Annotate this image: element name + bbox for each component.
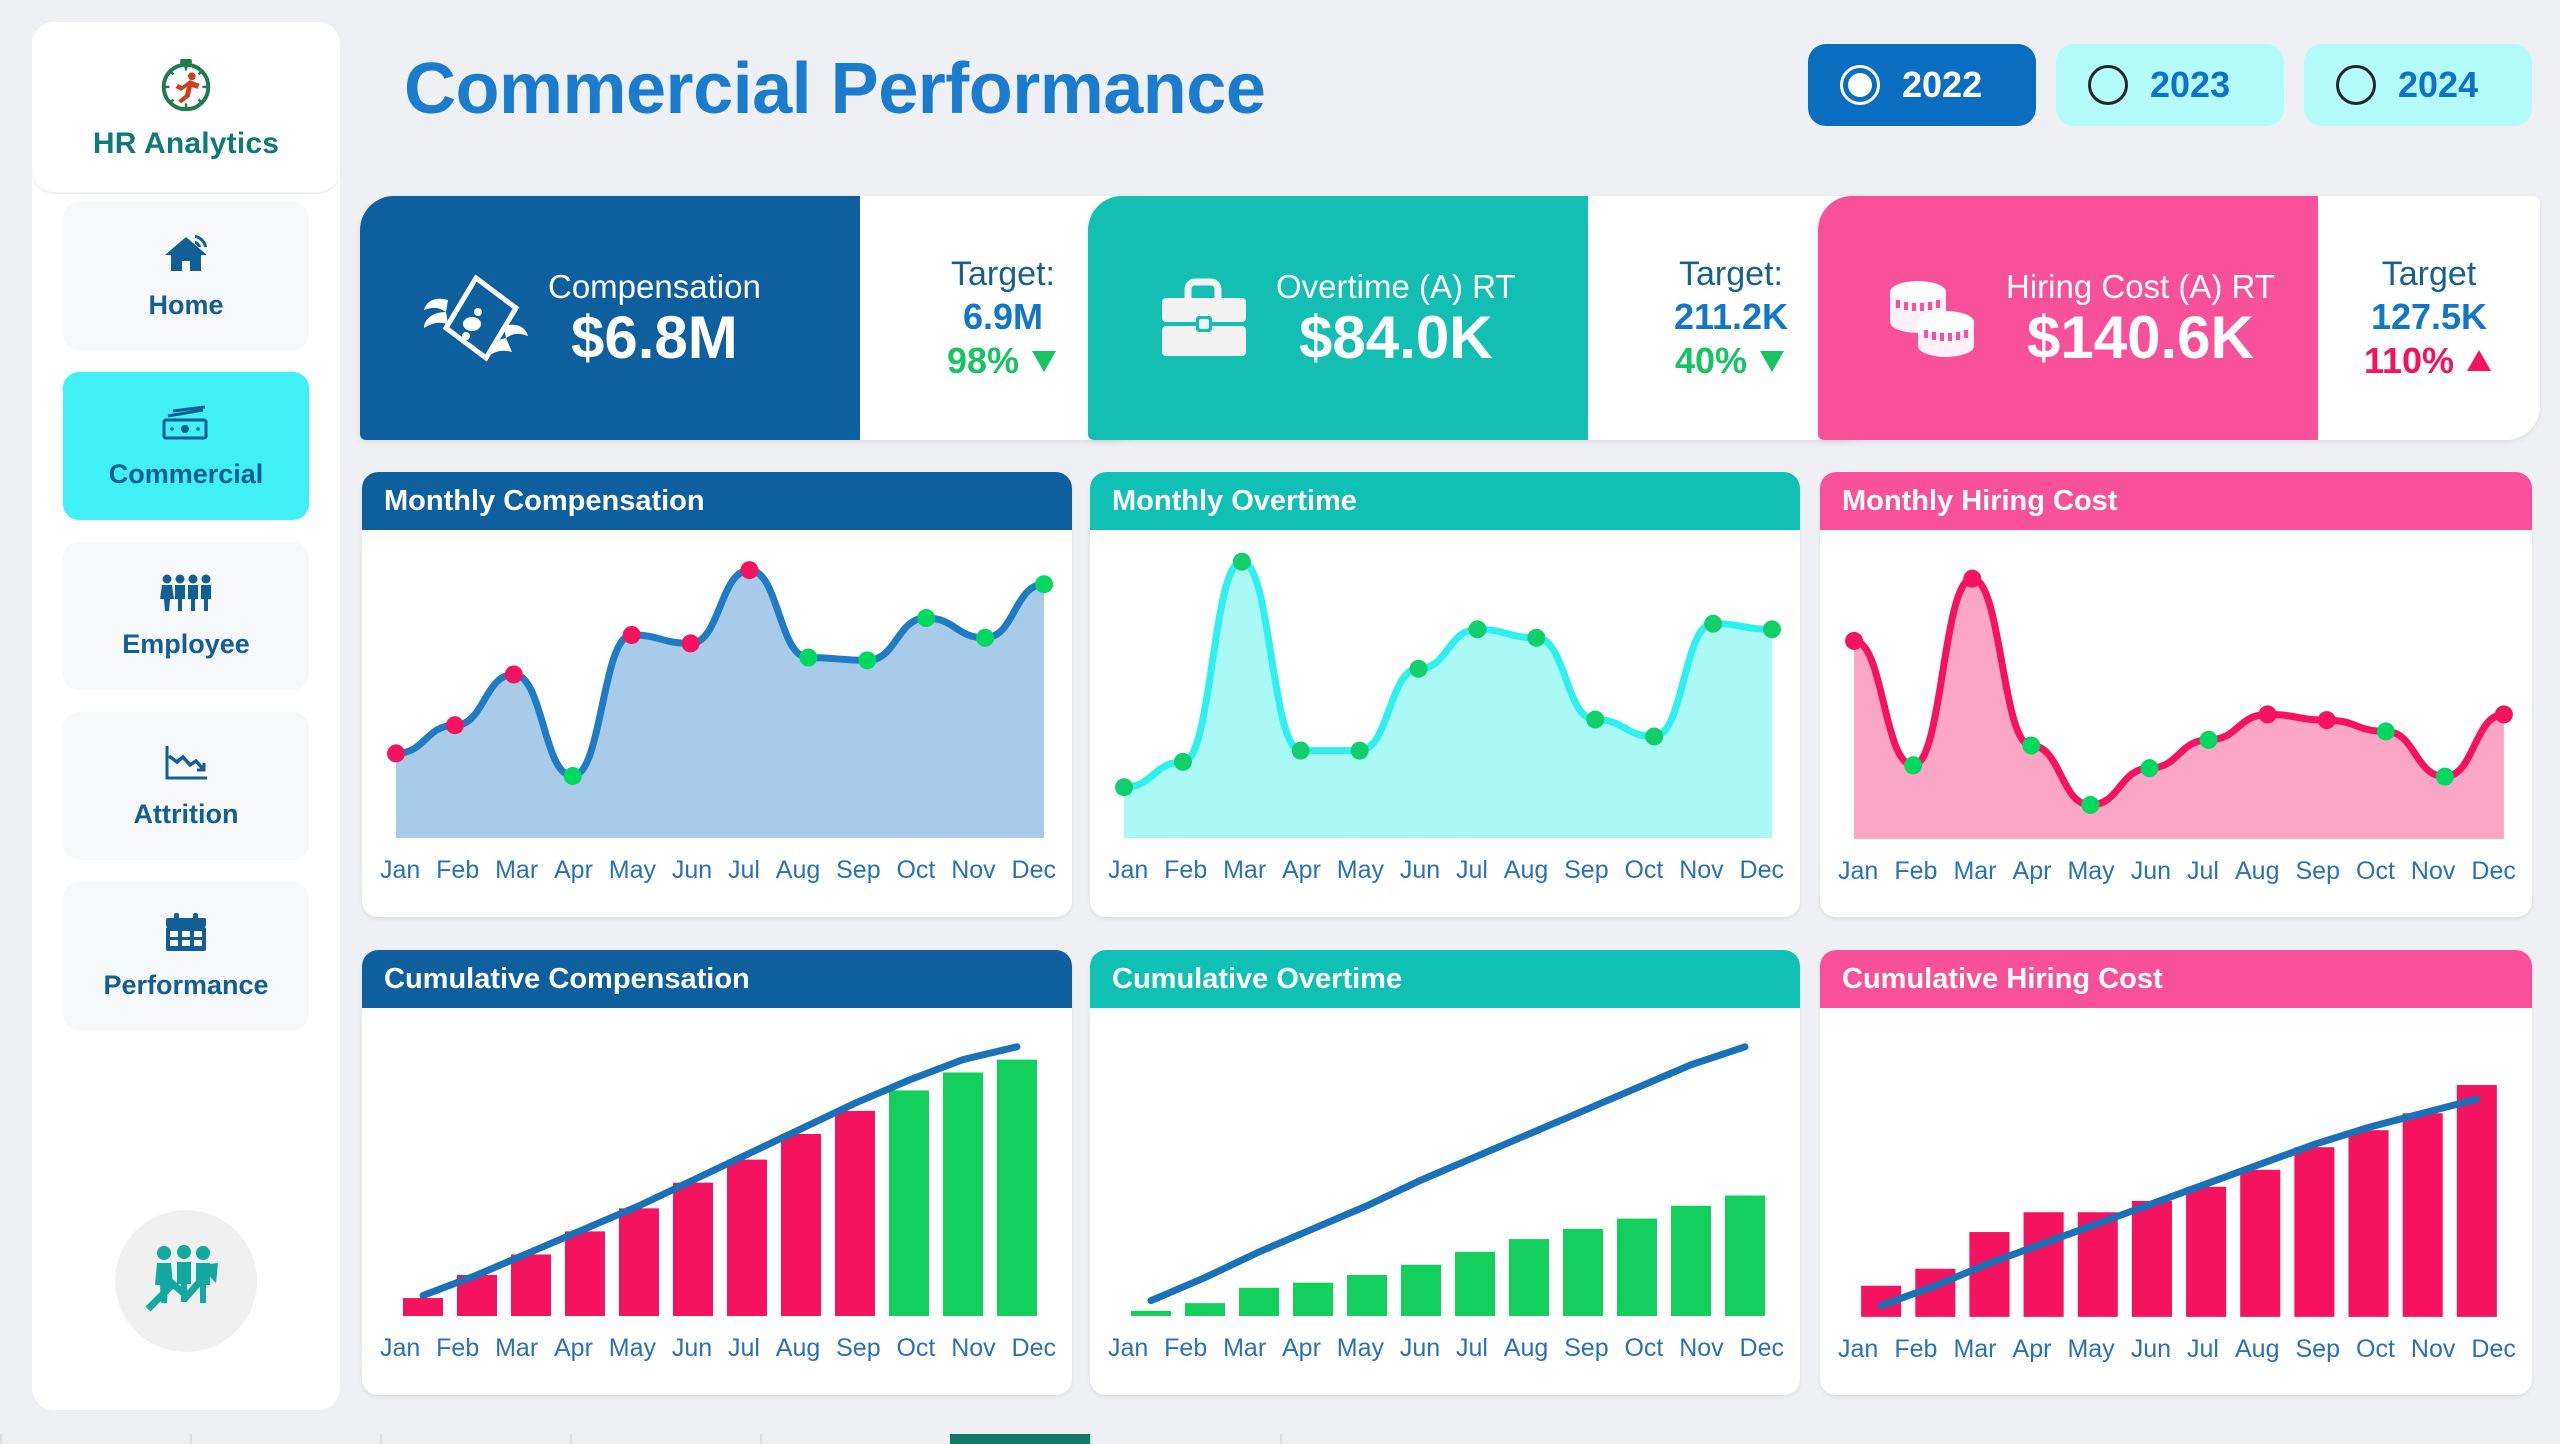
coin-stack-icon	[1878, 272, 1990, 364]
chart-area: JanFebMarAprMayJunJulAugSepOctNovDec	[362, 1008, 1072, 1395]
chart-card-monthly-hiring-cost[interactable]: Monthly Hiring Cost JanFebMarAprMayJunJu…	[1820, 472, 2532, 917]
radio-icon	[1840, 65, 1880, 105]
bar	[835, 1111, 875, 1316]
bar	[2349, 1130, 2389, 1317]
year-option-2023[interactable]: 2023	[2056, 44, 2284, 126]
chart-area: JanFebMarAprMayJunJulAugSepOctNovDec	[1820, 530, 2532, 917]
x-tick-label: Sep	[1564, 856, 1608, 885]
sidebar-item-performance[interactable]: Performance	[63, 882, 309, 1030]
year-option-2022[interactable]: 2022	[1808, 44, 2036, 126]
home-wifi-icon	[161, 231, 211, 280]
data-point-marker	[1292, 742, 1310, 760]
x-tick-label: Jun	[1400, 856, 1440, 885]
x-tick-label: Mar	[1953, 1335, 1996, 1364]
sidebar: HR Analytics Home	[32, 22, 340, 1410]
bar	[1131, 1311, 1171, 1316]
bar	[781, 1134, 821, 1316]
briefcase-icon	[1148, 272, 1260, 364]
kpi-target-label: Target:	[951, 255, 1055, 294]
kpi-delta: 40%	[1675, 340, 1787, 382]
x-axis-labels: JanFebMarAprMayJunJulAugSepOctNovDec	[1820, 1335, 2532, 1364]
x-axis-labels: JanFebMarAprMayJunJulAugSepOctNovDec	[1090, 1334, 1800, 1363]
x-tick-label: Feb	[1164, 1334, 1207, 1363]
x-tick-label: Jul	[1456, 1334, 1488, 1363]
bar	[997, 1060, 1037, 1316]
kpi-name: Overtime (A) RT	[1276, 268, 1516, 306]
data-point-marker	[2081, 796, 2099, 814]
x-tick-label: Aug	[776, 1334, 820, 1363]
sidebar-item-label: Attrition	[134, 799, 239, 830]
brand-panel: HR Analytics	[32, 22, 340, 192]
x-tick-label: Feb	[1894, 857, 1937, 886]
data-point-marker	[1704, 615, 1722, 633]
x-tick-label: May	[609, 1334, 656, 1363]
data-point-marker	[976, 629, 994, 647]
bar	[2457, 1085, 2497, 1317]
data-point-marker	[2200, 731, 2218, 749]
x-tick-label: Jun	[672, 1334, 712, 1363]
page-tab[interactable]	[1280, 1434, 1470, 1444]
x-tick-label: Mar	[1223, 1334, 1266, 1363]
x-tick-label: Apr	[2013, 1335, 2052, 1364]
x-tick-label: Nov	[2411, 857, 2455, 886]
sidebar-item-commercial[interactable]: Commercial	[63, 372, 309, 520]
year-label: 2023	[2150, 64, 2230, 106]
x-tick-label: Dec	[2471, 1335, 2515, 1364]
x-tick-label: Aug	[2235, 1335, 2279, 1364]
sidebar-item-label: Home	[148, 290, 223, 321]
x-tick-label: Jan	[1838, 1335, 1878, 1364]
kpi-value: $6.8M	[571, 306, 738, 369]
x-tick-label: Dec	[1740, 1334, 1784, 1363]
brand-name: HR Analytics	[93, 127, 279, 161]
kpi-value: $84.0K	[1299, 306, 1492, 369]
bar	[1185, 1303, 1225, 1316]
x-tick-label: Jun	[2131, 1335, 2171, 1364]
page-tab-active[interactable]	[950, 1434, 1090, 1444]
x-tick-label: Feb	[1894, 1335, 1937, 1364]
chart-card-cumulative-compensation[interactable]: Cumulative Compensation JanFebMarAprMayJ…	[362, 950, 1072, 1395]
chart-area: JanFebMarAprMayJunJulAugSepOctNovDec	[1820, 1008, 2532, 1395]
kpi-target-value: 6.9M	[963, 296, 1043, 338]
data-point-marker	[2022, 737, 2040, 755]
bar	[1725, 1196, 1765, 1316]
data-point-marker	[1233, 553, 1251, 571]
x-axis-labels: JanFebMarAprMayJunJulAugSepOctNovDec	[362, 856, 1072, 885]
x-tick-label: Jul	[728, 1334, 760, 1363]
kpi-card-overtime[interactable]: Overtime (A) RT $84.0K Target: 211.2K 40…	[1088, 196, 1874, 440]
chart-area: JanFebMarAprMayJunJulAugSepOctNovDec	[362, 530, 1072, 917]
bar	[1671, 1206, 1711, 1316]
data-point-marker	[1174, 753, 1192, 771]
kpi-name: Hiring Cost (A) RT	[2006, 268, 2275, 306]
page-tab[interactable]	[570, 1434, 760, 1444]
bar	[2403, 1113, 2443, 1317]
x-tick-label: Mar	[1953, 857, 1996, 886]
x-tick-label: Jan	[380, 1334, 420, 1363]
kpi-card-compensation[interactable]: Compensation $6.8M Target: 6.9M 98%	[360, 196, 1146, 440]
x-tick-label: Mar	[1223, 856, 1266, 885]
people-group-icon	[158, 572, 214, 619]
chart-title: Cumulative Compensation	[384, 963, 750, 996]
data-point-marker	[2259, 705, 2277, 723]
x-tick-label: Dec	[1012, 856, 1056, 885]
x-tick-label: Aug	[2235, 857, 2279, 886]
page-tab-strip[interactable]	[0, 1426, 2560, 1444]
chart-card-cumulative-overtime[interactable]: Cumulative Overtime JanFebMarAprMayJunJu…	[1090, 950, 1800, 1395]
x-tick-label: Jul	[728, 856, 760, 885]
x-tick-label: Jul	[2187, 1335, 2219, 1364]
x-tick-label: Dec	[1740, 856, 1784, 885]
bar-chart-cumulative-overtime	[1090, 1008, 1800, 1338]
bar	[673, 1183, 713, 1316]
x-tick-label: Oct	[896, 1334, 935, 1363]
declining-chart-icon	[159, 742, 213, 789]
data-point-marker	[2140, 759, 2158, 777]
bar	[511, 1254, 551, 1316]
chart-card-monthly-compensation[interactable]: Monthly Compensation JanFebMarAprMayJunJ…	[362, 472, 1072, 917]
sidebar-item-label: Commercial	[109, 459, 264, 490]
bar	[1347, 1275, 1387, 1316]
bar	[1293, 1283, 1333, 1316]
bar	[1239, 1288, 1279, 1316]
data-point-marker	[564, 767, 582, 785]
chart-title: Monthly Overtime	[1112, 485, 1357, 518]
x-tick-label: Apr	[1282, 856, 1321, 885]
x-tick-label: Sep	[2296, 857, 2340, 886]
data-point-marker	[1468, 620, 1486, 638]
sidebar-item-home[interactable]: Home	[63, 202, 309, 350]
data-point-marker	[387, 744, 405, 762]
x-tick-label: Oct	[2356, 857, 2395, 886]
x-tick-label: Jul	[2187, 857, 2219, 886]
data-point-marker	[1586, 711, 1604, 729]
data-point-marker	[1645, 727, 1663, 745]
data-point-marker	[799, 649, 817, 667]
area-chart-monthly-hiring-cost	[1820, 530, 2532, 861]
x-tick-label: Mar	[495, 1334, 538, 1363]
x-tick-label: Oct	[1624, 856, 1663, 885]
kpi-delta: 110%	[2364, 340, 2494, 382]
data-point-marker	[917, 609, 935, 627]
x-tick-label: May	[2067, 1335, 2114, 1364]
x-tick-label: Jul	[1456, 856, 1488, 885]
x-tick-label: May	[1337, 856, 1384, 885]
x-tick-label: Jun	[1400, 1334, 1440, 1363]
x-tick-label: Aug	[1504, 1334, 1548, 1363]
x-tick-label: Feb	[436, 856, 479, 885]
x-tick-label: Mar	[495, 856, 538, 885]
bar	[1455, 1252, 1495, 1316]
bar	[403, 1298, 443, 1316]
x-tick-label: Oct	[896, 856, 935, 885]
data-point-marker	[1904, 756, 1922, 774]
bar	[1509, 1239, 1549, 1316]
data-point-marker	[2436, 768, 2454, 786]
chart-card-monthly-overtime[interactable]: Monthly Overtime JanFebMarAprMayJunJulAu…	[1090, 472, 1800, 917]
x-tick-label: Nov	[2411, 1335, 2455, 1364]
calendar-icon	[162, 911, 210, 960]
chart-title: Monthly Hiring Cost	[1842, 485, 2117, 518]
x-tick-label: Feb	[1164, 856, 1207, 885]
bar	[565, 1231, 605, 1316]
bar	[1969, 1232, 2009, 1317]
x-tick-label: Sep	[2296, 1335, 2340, 1364]
x-tick-label: Jun	[672, 856, 712, 885]
year-label: 2024	[2398, 64, 2478, 106]
bar	[2240, 1170, 2280, 1317]
kpi-target-value: 127.5K	[2371, 296, 2487, 338]
chart-area: JanFebMarAprMayJunJulAugSepOctNovDec	[1090, 1008, 1800, 1395]
kpi-target-label: Target:	[1679, 255, 1783, 294]
x-tick-label: Apr	[1282, 1334, 1321, 1363]
x-axis-labels: JanFebMarAprMayJunJulAugSepOctNovDec	[1090, 856, 1800, 885]
x-tick-label: Oct	[1624, 1334, 1663, 1363]
sidebar-item-label: Employee	[122, 629, 250, 660]
x-tick-label: May	[2067, 857, 2114, 886]
data-point-marker	[446, 716, 464, 734]
arrow-down-icon	[1029, 348, 1059, 374]
arrow-down-icon	[1757, 348, 1787, 374]
chart-area: JanFebMarAprMayJunJulAugSepOctNovDec	[1090, 530, 1800, 917]
data-point-marker	[2318, 711, 2336, 729]
x-tick-label: Dec	[2471, 857, 2515, 886]
x-tick-label: Dec	[1012, 1334, 1056, 1363]
bar	[727, 1160, 767, 1316]
data-point-marker	[1115, 778, 1133, 796]
data-point-marker	[1845, 632, 1863, 650]
data-point-marker	[1763, 620, 1781, 638]
page-title: Commercial Performance	[404, 48, 1265, 130]
x-tick-label: May	[1337, 1334, 1384, 1363]
people-growth-arrow-icon	[140, 1241, 232, 1322]
year-label: 2022	[1902, 64, 1982, 106]
data-point-marker	[505, 665, 523, 683]
x-tick-label: Sep	[836, 856, 880, 885]
sidebar-item-attrition[interactable]: Attrition	[63, 712, 309, 860]
sidebar-nav: Home Commercial	[32, 202, 340, 1052]
x-tick-label: Aug	[1504, 856, 1548, 885]
data-point-marker	[1527, 629, 1545, 647]
bar	[2294, 1147, 2334, 1317]
data-point-marker	[740, 561, 758, 579]
bar	[2132, 1201, 2172, 1317]
x-tick-label: Nov	[951, 856, 995, 885]
chart-title: Monthly Compensation	[384, 485, 705, 518]
x-tick-label: Jan	[380, 856, 420, 885]
data-point-marker	[1963, 570, 1981, 588]
kpi-value: $140.6K	[2027, 306, 2254, 369]
x-tick-label: Jan	[1108, 1334, 1148, 1363]
area-chart-monthly-overtime	[1090, 530, 1800, 860]
x-tick-label: Feb	[436, 1334, 479, 1363]
bar	[2024, 1212, 2064, 1317]
kpi-name: Compensation	[548, 268, 761, 306]
data-point-marker	[1035, 575, 1053, 593]
kpi-target-value: 211.2K	[1674, 296, 1788, 338]
x-tick-label: Sep	[1564, 1334, 1608, 1363]
x-tick-label: Sep	[836, 1334, 880, 1363]
kpi-delta: 98%	[947, 340, 1059, 382]
x-tick-label: Jan	[1838, 857, 1878, 886]
sidebar-item-employee[interactable]: Employee	[63, 542, 309, 690]
chart-card-cumulative-hiring-cost[interactable]: Cumulative Hiring Cost JanFebMarAprMayJu…	[1820, 950, 2532, 1395]
x-tick-label: Apr	[554, 1334, 593, 1363]
x-tick-label: Aug	[776, 856, 820, 885]
chart-title: Cumulative Overtime	[1112, 963, 1402, 996]
x-tick-label: Apr	[2013, 857, 2052, 886]
x-tick-label: Nov	[1679, 856, 1723, 885]
x-tick-label: Nov	[1679, 1334, 1723, 1363]
bar	[1401, 1265, 1441, 1316]
x-tick-label: Jan	[1108, 856, 1148, 885]
bar	[1617, 1219, 1657, 1316]
x-tick-label: May	[609, 856, 656, 885]
data-point-marker	[2495, 705, 2513, 723]
page-tab[interactable]	[380, 1434, 570, 1444]
sidebar-item-label: Performance	[103, 970, 268, 1001]
bar-chart-cumulative-hiring-cost	[1820, 1008, 2532, 1339]
kpi-target-label: Target	[2382, 255, 2477, 294]
kpi-card-hiring-cost[interactable]: Hiring Cost (A) RT $140.6K Target 127.5K…	[1818, 196, 2540, 440]
data-point-marker	[1351, 742, 1369, 760]
radio-icon	[2088, 65, 2128, 105]
data-point-marker	[2377, 722, 2395, 740]
data-point-marker	[623, 626, 641, 644]
x-axis-labels: JanFebMarAprMayJunJulAugSepOctNovDec	[1820, 857, 2532, 886]
page-tab[interactable]	[0, 1434, 190, 1444]
chart-title: Cumulative Hiring Cost	[1842, 963, 2163, 996]
banknote-icon	[159, 402, 213, 449]
x-tick-label: Oct	[2356, 1335, 2395, 1364]
arrow-up-icon	[2464, 348, 2494, 374]
runner-stopwatch-icon	[155, 54, 217, 121]
data-point-marker	[1410, 660, 1428, 678]
year-option-2024[interactable]: 2024	[2304, 44, 2532, 126]
bar	[2186, 1187, 2226, 1317]
page-tab[interactable]	[1090, 1434, 1280, 1444]
x-tick-label: Apr	[554, 856, 593, 885]
bar	[943, 1072, 983, 1316]
flying-money-icon	[420, 270, 532, 366]
radio-icon	[2336, 65, 2376, 105]
bar	[619, 1208, 659, 1316]
bar-chart-cumulative-compensation	[362, 1008, 1072, 1338]
x-tick-label: Jun	[2131, 857, 2171, 886]
bar	[889, 1090, 929, 1316]
page-tab[interactable]	[760, 1434, 950, 1444]
x-tick-label: Nov	[951, 1334, 995, 1363]
page-tab[interactable]	[190, 1434, 380, 1444]
data-point-marker	[858, 651, 876, 669]
x-axis-labels: JanFebMarAprMayJunJulAugSepOctNovDec	[362, 1334, 1072, 1363]
dashboard-root: HR Analytics Home	[0, 0, 2560, 1444]
area-chart-monthly-compensation	[362, 530, 1072, 860]
sidebar-footer-badge	[115, 1210, 257, 1352]
bar	[1563, 1229, 1603, 1316]
year-selector: 2022 2023 2024	[1808, 44, 2532, 126]
data-point-marker	[682, 634, 700, 652]
